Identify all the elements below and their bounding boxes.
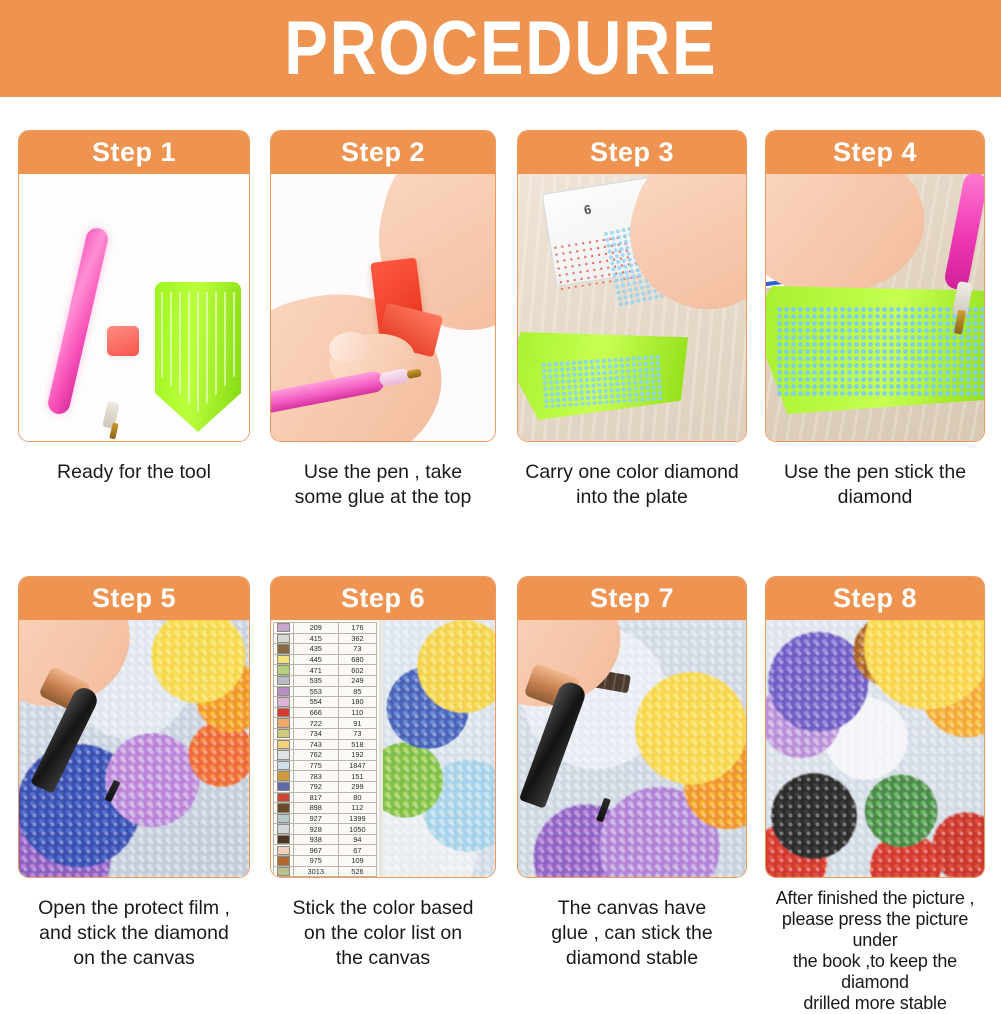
step-header-2: Step 2 [271, 131, 495, 174]
color-chart-row: 792299 [274, 781, 377, 792]
color-swatch-cell [274, 686, 294, 697]
color-swatch-cell [274, 707, 294, 718]
color-swatch-cell [274, 824, 294, 835]
color-chart-row: 93894 [274, 834, 377, 845]
color-swatch [277, 687, 290, 696]
photo-color-chart: 2091764153624357344568047160253524955385… [271, 620, 495, 878]
color-swatch [277, 761, 290, 770]
page-header-banner: PROCEDURE [0, 0, 1001, 97]
color-swatch [277, 793, 290, 802]
color-swatch-cell [274, 697, 294, 708]
color-swatch [277, 665, 290, 674]
color-code-cell: 743 [293, 739, 338, 750]
color-swatch-cell [274, 739, 294, 750]
color-swatch-cell [274, 633, 294, 644]
step-caption-6: Stick the color based on the color list … [270, 896, 496, 971]
step-title-7: Step 7 [590, 583, 674, 614]
photo-tools-on-white [19, 174, 249, 442]
blue-diamonds [776, 306, 984, 398]
color-swatch [277, 814, 290, 823]
photo-glue-canvas [518, 620, 746, 878]
step-image-7 [518, 620, 746, 878]
photo-finished-picture [766, 620, 984, 878]
step-cell-4: Step 4 Use the pen stick the diamond [765, 130, 985, 542]
step-caption-4: Use the pen stick the diamond [765, 460, 985, 510]
step-image-1 [19, 174, 249, 442]
color-chart-row: 554180 [274, 697, 377, 708]
color-chart-row: 743518 [274, 739, 377, 750]
color-count-cell: 94 [338, 834, 376, 845]
color-count-cell: 112 [338, 803, 376, 814]
color-code-cell: 975 [293, 856, 338, 867]
color-chart-row: 7751847 [274, 760, 377, 771]
color-swatch-cell [274, 623, 294, 634]
color-code-cell: 775 [293, 760, 338, 771]
color-chart-row: 762192 [274, 750, 377, 761]
color-chart-body: 2091764153624357344568047160253524955385… [274, 623, 377, 877]
color-swatch [277, 718, 290, 727]
color-chart-row: 898112 [274, 803, 377, 814]
color-count-cell: 1399 [338, 813, 376, 824]
color-chart-row: 783151 [274, 771, 377, 782]
step-card-1[interactable]: Step 1 [18, 130, 250, 442]
color-swatch [277, 740, 290, 749]
color-count-cell: 73 [338, 644, 376, 655]
step-caption-1: Ready for the tool [18, 460, 250, 485]
color-count-cell: 67 [338, 845, 376, 856]
color-swatch [277, 771, 290, 780]
color-count-cell: 1847 [338, 760, 376, 771]
color-swatch-cell [274, 665, 294, 676]
diamond-bead-highlights [766, 620, 984, 878]
canvas-artwork [383, 620, 495, 878]
diamond-bead-highlights [383, 620, 495, 878]
color-code-cell: 415 [293, 633, 338, 644]
color-swatch-cell [274, 866, 294, 877]
color-code-cell: 471 [293, 665, 338, 676]
color-code-cell: 762 [293, 750, 338, 761]
step-cell-5: Step 5 Open the protect film , and stick… [18, 576, 250, 996]
blue-diamonds [541, 354, 664, 408]
color-count-cell: 80 [338, 792, 376, 803]
color-chart-row: 9281050 [274, 824, 377, 835]
step-caption-2: Use the pen , take some glue at the top [270, 460, 496, 510]
color-chart-row: 55385 [274, 686, 377, 697]
color-swatch [277, 623, 290, 632]
color-swatch [277, 655, 290, 664]
photo-pour-diamonds: 6 [518, 174, 746, 442]
color-chart-row: 975109 [274, 856, 377, 867]
color-count-cell: 151 [338, 771, 376, 782]
color-count-cell: 526 [338, 866, 376, 877]
pink-pen-icon [46, 226, 110, 416]
step-caption-7: The canvas have glue , can stick the dia… [517, 896, 747, 971]
step-title-4: Step 4 [833, 137, 917, 168]
color-code-cell: 445 [293, 654, 338, 665]
color-swatch [277, 867, 290, 876]
color-count-cell: 249 [338, 675, 376, 686]
color-swatch [277, 697, 290, 706]
color-swatch [277, 803, 290, 812]
step-header-8: Step 8 [766, 577, 984, 620]
color-swatch-cell [274, 813, 294, 824]
step-image-4 [766, 174, 984, 442]
color-chart-row: 72291 [274, 718, 377, 729]
color-chart-row: 9271399 [274, 813, 377, 824]
step-title-8: Step 8 [833, 583, 917, 614]
color-swatch [277, 856, 290, 865]
glue-wax-icon [107, 326, 139, 356]
color-swatch-cell [274, 792, 294, 803]
color-chart-row: 3013526 [274, 866, 377, 877]
color-code-cell: 535 [293, 675, 338, 686]
color-chart-row: 96767 [274, 845, 377, 856]
step-image-8 [766, 620, 984, 878]
color-code-cell: 734 [293, 728, 338, 739]
step-card-3[interactable]: Step 3 6 [517, 130, 747, 442]
color-swatch [277, 846, 290, 855]
step-image-5 [19, 620, 249, 878]
color-count-cell: 110 [338, 707, 376, 718]
color-count-cell: 362 [338, 633, 376, 644]
color-swatch-cell [274, 675, 294, 686]
step-header-1: Step 1 [19, 131, 249, 174]
step-cell-8: Step 8 After finished the picture , plea… [765, 576, 985, 996]
color-count-cell: 518 [338, 739, 376, 750]
photo-pen-taking-glue [271, 174, 495, 442]
step-header-3: Step 3 [518, 131, 746, 174]
color-code-cell: 3013 [293, 866, 338, 877]
color-count-cell: 299 [338, 781, 376, 792]
color-swatch [277, 676, 290, 685]
color-swatch [277, 835, 290, 844]
step-card-6[interactable]: Step 6 209176415362435734456804716025352… [270, 576, 496, 878]
color-swatch [277, 782, 290, 791]
color-swatch-cell [274, 803, 294, 814]
color-code-cell: 722 [293, 718, 338, 729]
step-title-6: Step 6 [341, 583, 425, 614]
step-caption-8: After finished the picture , please pres… [765, 888, 985, 1014]
color-chart-row: 415362 [274, 633, 377, 644]
photo-pen-picks-diamond [766, 174, 984, 442]
color-swatch-cell [274, 644, 294, 655]
step-title-1: Step 1 [92, 137, 176, 168]
photo-sticking-on-canvas [19, 620, 249, 878]
step-card-5[interactable]: Step 5 [18, 576, 250, 878]
page-title: PROCEDURE [284, 11, 717, 87]
step-card-8[interactable]: Step 8 [765, 576, 985, 878]
color-code-cell: 783 [293, 771, 338, 782]
color-swatch-cell [274, 845, 294, 856]
color-count-cell: 176 [338, 623, 376, 634]
step-image-6: 2091764153624357344568047160253524955385… [271, 620, 495, 878]
color-swatch-cell [274, 781, 294, 792]
color-chart-row: 445680 [274, 654, 377, 665]
color-swatch-cell [274, 750, 294, 761]
color-swatch [277, 644, 290, 653]
color-swatch-cell [274, 834, 294, 845]
color-code-cell: 209 [293, 623, 338, 634]
color-code-cell: 817 [293, 792, 338, 803]
color-count-cell: 192 [338, 750, 376, 761]
color-chart-row: 535249 [274, 675, 377, 686]
step-title-2: Step 2 [341, 137, 425, 168]
color-count-cell: 73 [338, 728, 376, 739]
step-cell-7: Step 7 The canvas have glue , can stick … [517, 576, 747, 996]
color-swatch-cell [274, 771, 294, 782]
color-swatch [277, 824, 290, 833]
step-caption-5: Open the protect film , and stick the di… [18, 896, 250, 971]
color-chart-table: 2091764153624357344568047160253524955385… [273, 622, 377, 877]
color-chart-row: 209176 [274, 623, 377, 634]
color-code-cell: 553 [293, 686, 338, 697]
color-code-cell: 928 [293, 824, 338, 835]
step-header-5: Step 5 [19, 577, 249, 620]
color-swatch [277, 634, 290, 643]
color-swatch [277, 729, 290, 738]
color-count-cell: 85 [338, 686, 376, 697]
step-header-6: Step 6 [271, 577, 495, 620]
step-header-4: Step 4 [766, 131, 984, 174]
color-swatch-cell [274, 728, 294, 739]
step-title-3: Step 3 [590, 137, 674, 168]
steps-grid: Step 1 Ready for the tool Step 2 [0, 97, 1001, 1001]
step-cell-6: Step 6 209176415362435734456804716025352… [270, 576, 496, 996]
step-image-2 [271, 174, 495, 442]
step-caption-3: Carry one color diamond into the plate [517, 460, 747, 510]
color-code-cell: 792 [293, 781, 338, 792]
color-code-cell: 927 [293, 813, 338, 824]
color-code-cell: 554 [293, 697, 338, 708]
color-chart-row: 43573 [274, 644, 377, 655]
color-list-sheet: 2091764153624357344568047160253524955385… [271, 620, 379, 878]
color-code-cell: 938 [293, 834, 338, 845]
color-code-cell: 898 [293, 803, 338, 814]
color-chart-row: 471602 [274, 665, 377, 676]
color-count-cell: 180 [338, 697, 376, 708]
color-count-cell: 1050 [338, 824, 376, 835]
color-chart-row: 81780 [274, 792, 377, 803]
color-chart-row: 73473 [274, 728, 377, 739]
step-header-7: Step 7 [518, 577, 746, 620]
step-cell-3: Step 3 6 Carry one color diamond into th… [517, 130, 747, 542]
color-count-cell: 680 [338, 654, 376, 665]
step-cell-2: Step 2 Use the pen , take some glue at t… [270, 130, 496, 542]
step-cell-1: Step 1 Ready for the tool [18, 130, 250, 542]
color-chart-row: 666110 [274, 707, 377, 718]
color-count-cell: 91 [338, 718, 376, 729]
step-card-4[interactable]: Step 4 [765, 130, 985, 442]
step-card-7[interactable]: Step 7 [517, 576, 747, 878]
color-count-cell: 109 [338, 856, 376, 867]
color-code-cell: 666 [293, 707, 338, 718]
color-code-cell: 967 [293, 845, 338, 856]
step-card-2[interactable]: Step 2 [270, 130, 496, 442]
step-image-3: 6 [518, 174, 746, 442]
color-swatch-cell [274, 718, 294, 729]
color-swatch-cell [274, 760, 294, 771]
step-title-5: Step 5 [92, 583, 176, 614]
color-swatch [277, 708, 290, 717]
color-swatch [277, 750, 290, 759]
color-code-cell: 435 [293, 644, 338, 655]
color-swatch-cell [274, 856, 294, 867]
color-swatch-cell [274, 654, 294, 665]
color-count-cell: 602 [338, 665, 376, 676]
